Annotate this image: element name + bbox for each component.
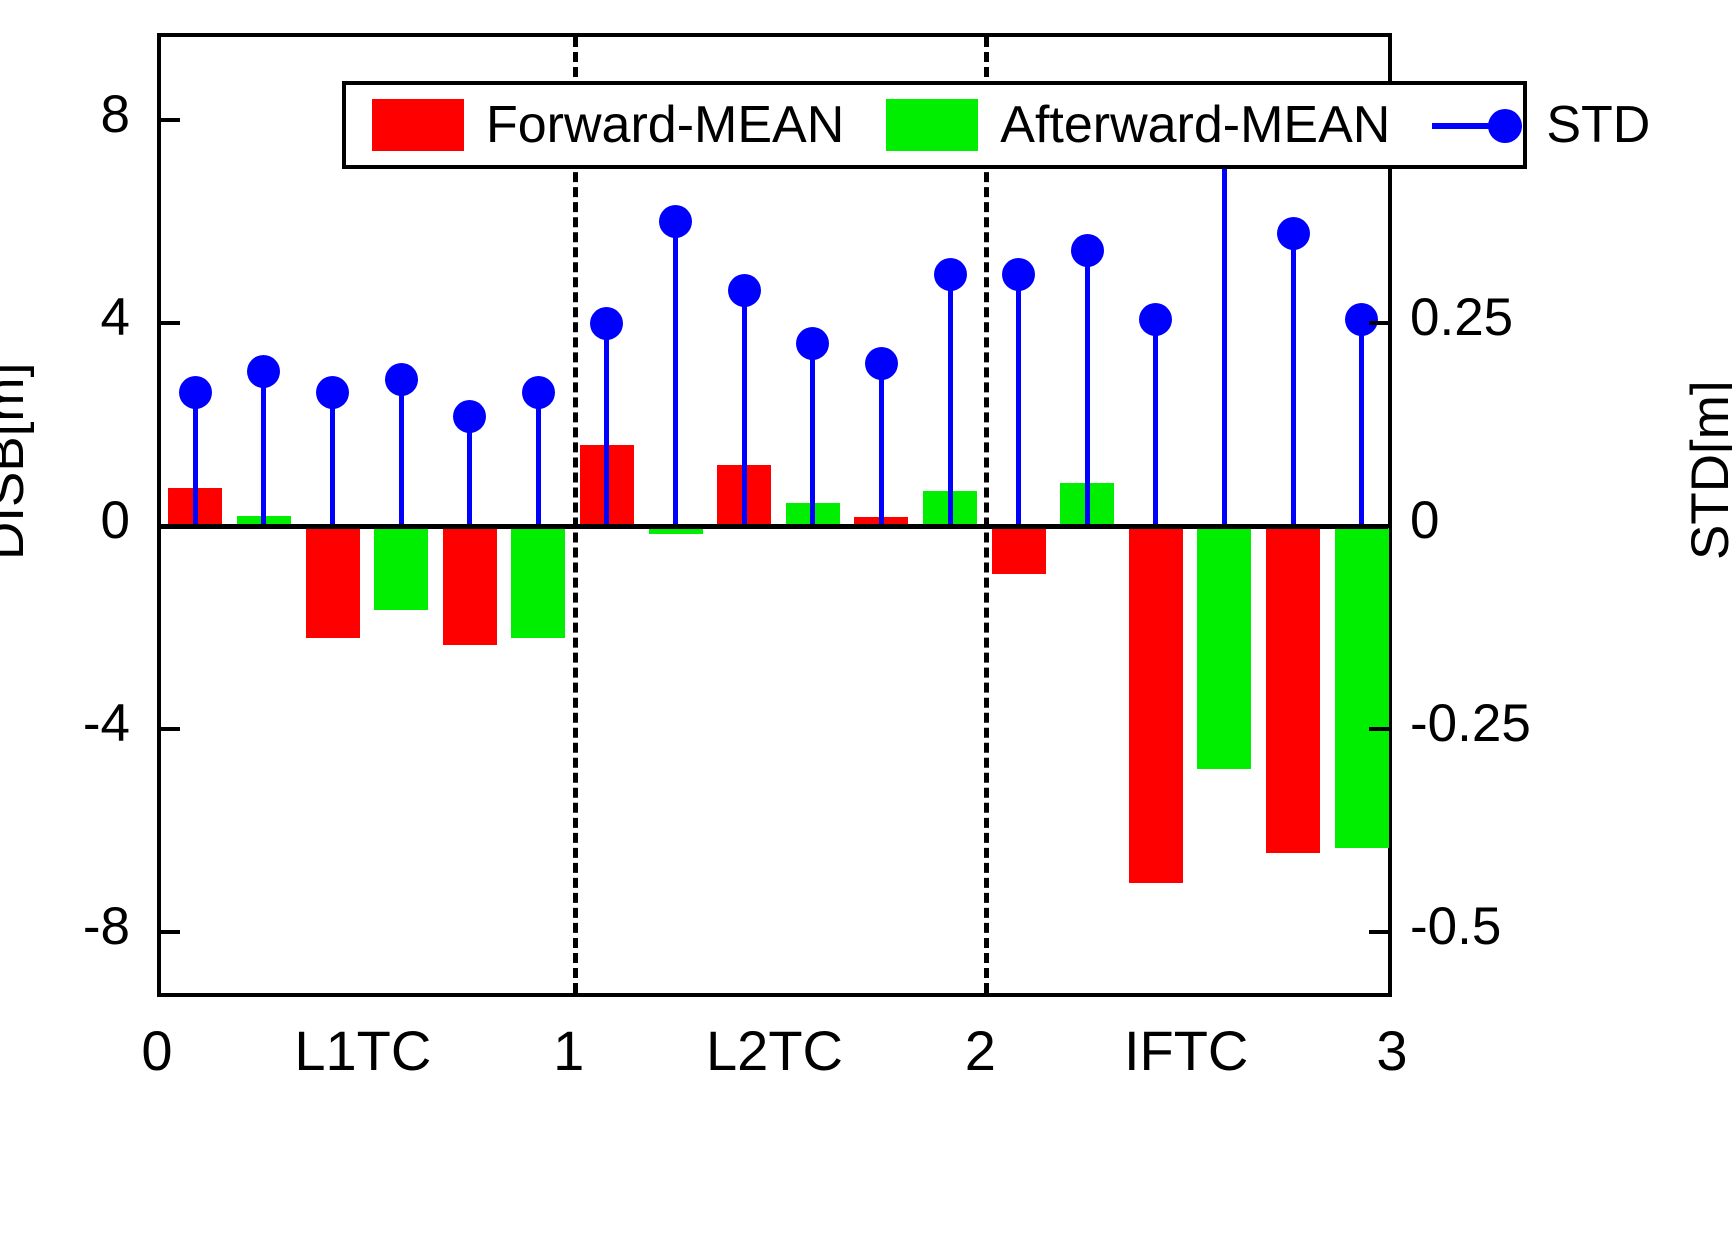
left-axis-tick [160,727,180,731]
std-marker-dot-icon [865,347,898,380]
std-stem [193,392,198,526]
plot-inner [161,37,1388,993]
bar-forward-mean [992,526,1046,574]
plot-area: Forward-MEAN Afterward-MEAN STD [157,33,1392,997]
std-stem [330,392,335,526]
std-marker-dot-icon [1277,217,1310,250]
bar-forward-mean [1266,526,1320,853]
left-axis-tick-label: 8 [10,88,130,141]
left-axis-tick-label: 0 [10,494,130,547]
std-stem [1291,234,1296,526]
std-marker-dot-icon [796,327,829,360]
std-marker-dot-icon [247,355,280,388]
group-divider [573,37,578,993]
std-marker-dot-icon [1002,258,1035,291]
left-axis-tick-label: 4 [10,291,130,344]
std-stem [810,343,815,526]
std-stem [1153,319,1158,526]
std-stem [604,323,609,526]
std-marker-dot-icon [316,376,349,409]
std-stem [1016,275,1021,526]
bar-afterward-mean [1335,526,1389,848]
std-stem [1359,319,1364,526]
right-axis-tick [1369,930,1389,934]
legend-swatch-afterward-mean [886,99,978,151]
legend-label-forward-mean: Forward-MEAN [486,95,844,155]
std-marker-dot-icon [590,307,623,340]
chart-legend: Forward-MEAN Afterward-MEAN STD [342,81,1527,169]
right-axis-title: STD[m] [1680,380,1732,560]
bar-forward-mean [1129,526,1183,883]
std-marker-dot-icon [659,205,692,238]
std-stem [1085,250,1090,526]
chart-figure: DISB[m] STD[m] 840-4-8 0.50.250-0.25-0.5… [0,0,1732,1236]
legend-item-std: STD [1432,95,1650,155]
std-marker-dot-icon [179,376,212,409]
right-axis-tick-label: 0 [1410,494,1610,547]
std-marker-dot-icon [522,376,555,409]
right-axis-tick [1369,321,1389,325]
zero-baseline [161,524,1388,529]
std-marker-dot-icon [1139,303,1172,336]
left-axis-tick [160,930,180,934]
std-stem [536,392,541,526]
std-marker-dot-icon [934,258,967,291]
std-stem [673,222,678,526]
right-axis-tick [1369,727,1389,731]
legend-swatch-forward-mean [372,99,464,151]
legend-item-forward-mean: Forward-MEAN [372,95,844,155]
group-divider [984,37,989,993]
left-axis-tick [160,321,180,325]
bar-forward-mean [306,526,360,638]
legend-label-std: STD [1546,95,1650,155]
left-axis-tick-label: -8 [10,900,130,953]
std-stem [742,291,747,526]
std-stem [1222,124,1227,526]
right-axis-tick-label: -0.5 [1410,900,1610,953]
std-marker-dot-icon [1345,303,1378,336]
bar-forward-mean [443,526,497,645]
std-stem [261,372,266,526]
legend-std-dot-icon [1488,109,1522,143]
right-axis-tick-label: 0.25 [1410,291,1610,344]
bar-afterward-mean [1197,526,1251,769]
x-tick-label: 3 [1242,1018,1542,1083]
left-axis-tick [160,118,180,122]
legend-item-afterward-mean: Afterward-MEAN [886,95,1390,155]
std-marker-dot-icon [1071,234,1104,267]
bar-afterward-mean [374,526,428,610]
std-marker-dot-icon [385,363,418,396]
right-axis-tick-label: -0.25 [1410,697,1610,750]
legend-label-afterward-mean: Afterward-MEAN [1000,95,1390,155]
std-marker-dot-icon [453,400,486,433]
legend-marker-std [1432,99,1524,151]
left-axis-tick-label: -4 [10,697,130,750]
bar-afterward-mean [511,526,565,638]
std-stem [948,275,953,526]
std-stem [879,364,884,526]
std-stem [399,380,404,526]
std-marker-dot-icon [728,274,761,307]
